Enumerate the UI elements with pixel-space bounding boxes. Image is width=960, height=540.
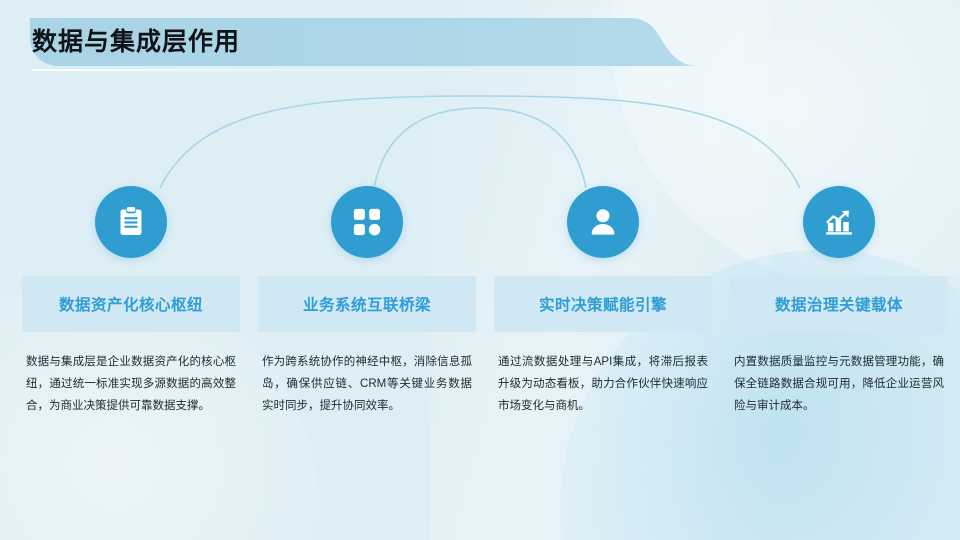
feature-column-3: 实时决策赋能引擎 通过流数据处理与API集成，将滞后报表升级为动态看板，助力合作… — [494, 186, 712, 417]
feature-title-2: 业务系统互联桥梁 — [258, 276, 476, 332]
feature-body-4: 内置数据质量监控与元数据管理功能，确保全链路数据合规可用，降低企业运营风险与审计… — [730, 351, 948, 417]
feature-body-1: 数据与集成层是企业数据资产化的核心枢纽，通过统一标准实现多源数据的高效整合，为商… — [22, 351, 240, 417]
feature-columns: 数据资产化核心枢纽 数据与集成层是企业数据资产化的核心枢纽，通过统一标准实现多源… — [0, 0, 960, 540]
feature-body-3: 通过流数据处理与API集成，将滞后报表升级为动态看板，助力合作伙伴快速响应市场变… — [494, 351, 712, 417]
growth-chart-icon-badge — [803, 186, 875, 258]
feature-column-4: 数据治理关键载体 内置数据质量监控与元数据管理功能，确保全链路数据合规可用，降低… — [730, 186, 948, 417]
feature-title-1: 数据资产化核心枢纽 — [22, 276, 240, 332]
user-icon-badge — [567, 186, 639, 258]
growth-chart-icon — [822, 205, 856, 239]
clipboard-icon-badge — [95, 186, 167, 258]
clipboard-icon — [114, 205, 148, 239]
user-icon — [586, 205, 620, 239]
dashboard-grid-icon — [351, 206, 383, 238]
feature-body-2: 作为跨系统协作的神经中枢，消除信息孤岛，确保供应链、CRM等关键业务数据实时同步… — [258, 351, 476, 417]
slide-root: 数据与集成层作用 数据资产化核心枢纽 数据与集成层是企业数据资 — [0, 0, 960, 540]
feature-title-3: 实时决策赋能引擎 — [494, 276, 712, 332]
feature-title-4: 数据治理关键载体 — [730, 276, 948, 332]
feature-column-2: 业务系统互联桥梁 作为跨系统协作的神经中枢，消除信息孤岛，确保供应链、CRM等关… — [258, 186, 476, 417]
feature-column-1: 数据资产化核心枢纽 数据与集成层是企业数据资产化的核心枢纽，通过统一标准实现多源… — [22, 186, 240, 417]
dashboard-grid-icon-badge — [331, 186, 403, 258]
